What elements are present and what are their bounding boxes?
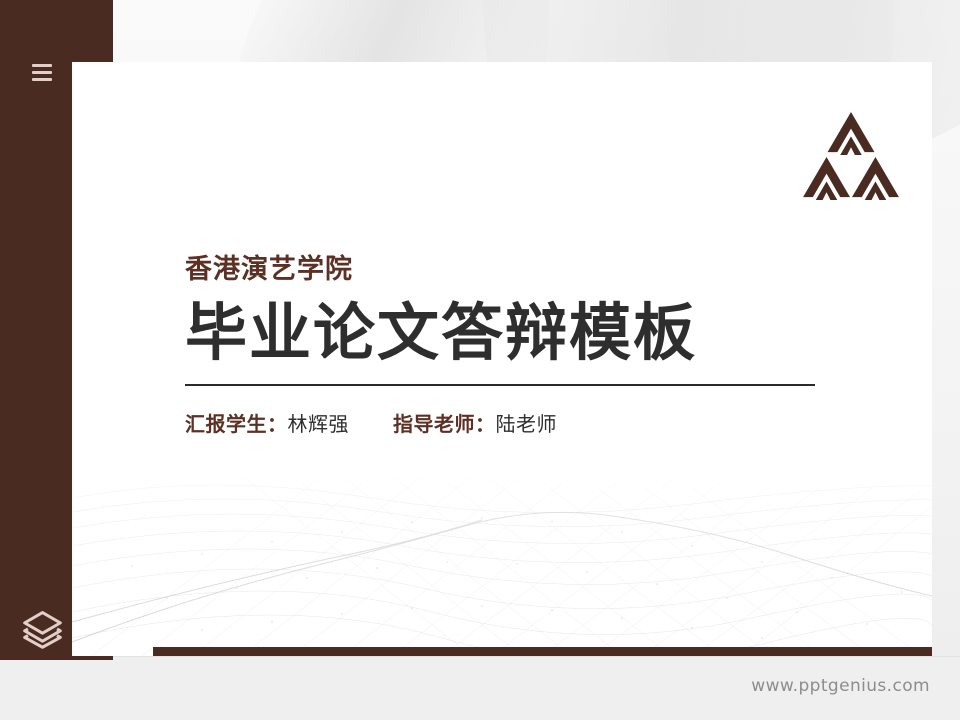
supervising-teacher: 指导老师： 陆老师 <box>393 408 557 437</box>
reporting-student-value: 林辉强 <box>288 408 350 437</box>
hamburger-bar-2 <box>32 71 52 74</box>
layers-stack-icon[interactable] <box>20 606 65 651</box>
hkapa-triangle-logo <box>802 110 900 202</box>
page-title: 毕业论文答辩模板 <box>185 298 825 367</box>
reporting-student: 汇报学生： 林辉强 <box>185 408 349 437</box>
site-watermark: www.pptgenius.com <box>751 676 930 696</box>
title-block: 香港演艺学院 毕业论文答辩模板 汇报学生： 林辉强 指导老师： 陆老师 <box>185 254 825 437</box>
presentation-page: 香港演艺学院 毕业论文答辩模板 汇报学生： 林辉强 指导老师： 陆老师 www.… <box>0 0 960 720</box>
slide-bottom-accent-bar <box>153 647 932 656</box>
school-name: 香港演艺学院 <box>185 254 825 286</box>
supervising-teacher-value: 陆老师 <box>496 408 558 437</box>
hamburger-menu-icon[interactable] <box>32 64 52 81</box>
hamburger-bar-3 <box>32 78 52 81</box>
slide-canvas: 香港演艺学院 毕业论文答辩模板 汇报学生： 林辉强 指导老师： 陆老师 <box>72 62 932 656</box>
hamburger-bar-1 <box>32 64 52 67</box>
supervising-teacher-label: 指导老师： <box>393 408 496 437</box>
title-divider <box>185 384 815 386</box>
people-row: 汇报学生： 林辉强 指导老师： 陆老师 <box>185 408 825 437</box>
reporting-student-label: 汇报学生： <box>185 408 288 437</box>
wireframe-mesh-decoration <box>72 446 932 656</box>
